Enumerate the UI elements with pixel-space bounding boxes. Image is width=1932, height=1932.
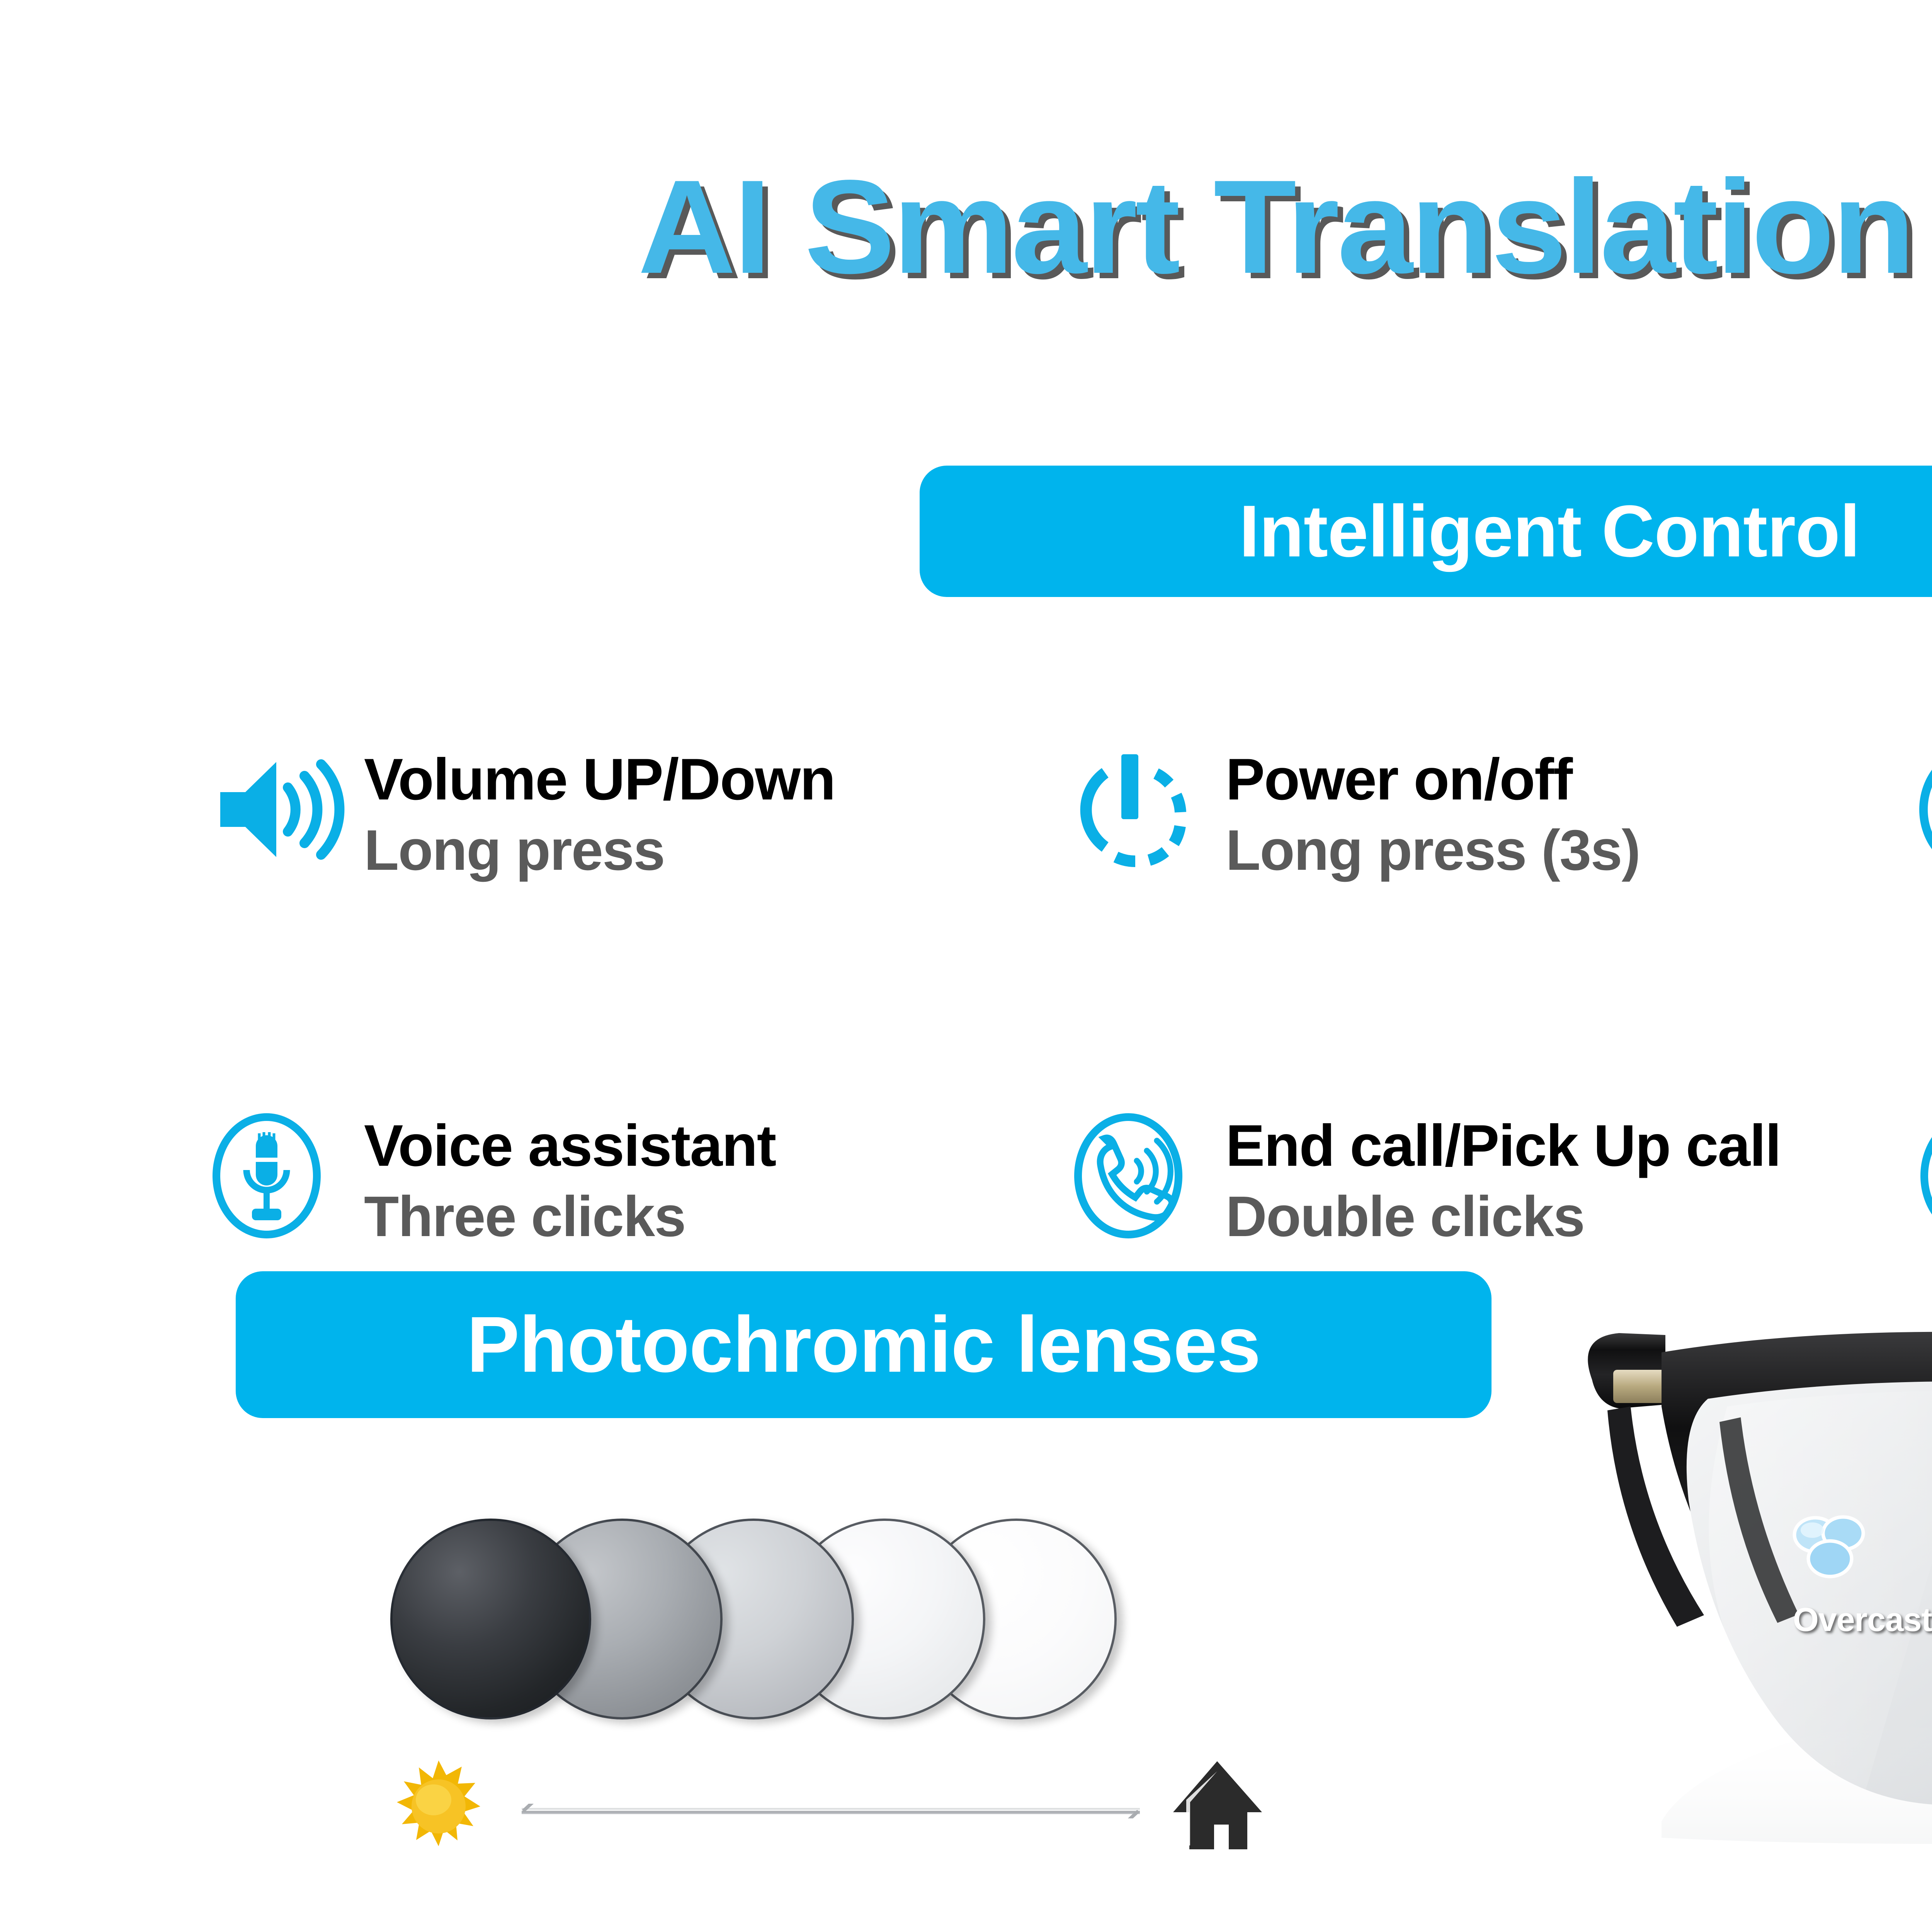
control-item-playback[interactable]: Pause/Start music/playback Double clicks xyxy=(1917,746,1932,880)
photochromic-lenses-label: Photochromic lenses xyxy=(467,1299,1260,1390)
phone-waves-icon xyxy=(1070,1112,1221,1240)
control-item-title: Power on/off xyxy=(1226,750,1640,810)
power-icon xyxy=(1070,746,1221,873)
control-item-title: Volume UP/Down xyxy=(364,750,835,810)
photochromic-lenses-banner: Photochromic lenses xyxy=(236,1271,1492,1418)
control-item-text: Voice assistant Three clicks xyxy=(359,1112,776,1247)
phone-reject-icon xyxy=(1917,1112,1932,1240)
control-item-text: End call/Pick Up call Double clicks xyxy=(1221,1112,1781,1247)
control-item-text: Volume UP/Down Long press xyxy=(359,746,835,880)
double-headed-arrow xyxy=(506,1804,1155,1818)
control-item-text: Power on/off Long press (3s) xyxy=(1221,746,1640,880)
control-item-reject-call[interactable]: Reject call Long press (2s) xyxy=(1917,1112,1932,1247)
weather-label-overcast: Overcast xyxy=(1793,1601,1932,1639)
intelligent-control-banner: Intelligent Control xyxy=(920,466,1932,597)
sun-icon xyxy=(390,1758,487,1857)
home-icon xyxy=(1167,1754,1267,1857)
control-item-action: Long press (3s) xyxy=(1226,820,1640,880)
control-item-voice-assistant[interactable]: Voice assistant Three clicks xyxy=(209,1112,1070,1247)
control-feature-row-1: Volume UP/Down Long press xyxy=(209,746,1932,880)
control-feature-row-2: Voice assistant Three clicks xyxy=(209,1112,1932,1247)
tint-scale-row xyxy=(390,1747,1310,1886)
control-item-action: Three clicks xyxy=(364,1187,776,1247)
smart-glasses-product-image: Overcast Cloudy Sunny xyxy=(1546,1283,1932,1886)
control-item-title: Voice assistant xyxy=(364,1116,776,1176)
page-title: AI Smart Translation Glasses xyxy=(0,151,1932,304)
lens-disc xyxy=(390,1519,591,1719)
control-item-action: Long press xyxy=(364,820,835,880)
volume-speaker-icon xyxy=(209,746,359,873)
skip-next-icon xyxy=(1917,746,1932,873)
control-feature-grid: Volume UP/Down Long press xyxy=(209,746,1932,1247)
intelligent-control-label: Intelligent Control xyxy=(1239,489,1860,573)
control-item-volume[interactable]: Volume UP/Down Long press xyxy=(209,746,1070,880)
infographic-page: AI Smart Translation Glasses Intelligent… xyxy=(0,0,1932,1932)
lens-tint-disc-row xyxy=(390,1519,1318,1739)
control-item-title: End call/Pick Up call xyxy=(1226,1116,1781,1176)
control-item-action: Double clicks xyxy=(1226,1187,1781,1247)
control-item-power[interactable]: Power on/off Long press (3s) xyxy=(1070,746,1917,880)
control-item-end-pickup-call[interactable]: End call/Pick Up call Double clicks xyxy=(1070,1112,1917,1247)
microphone-icon xyxy=(209,1112,359,1240)
